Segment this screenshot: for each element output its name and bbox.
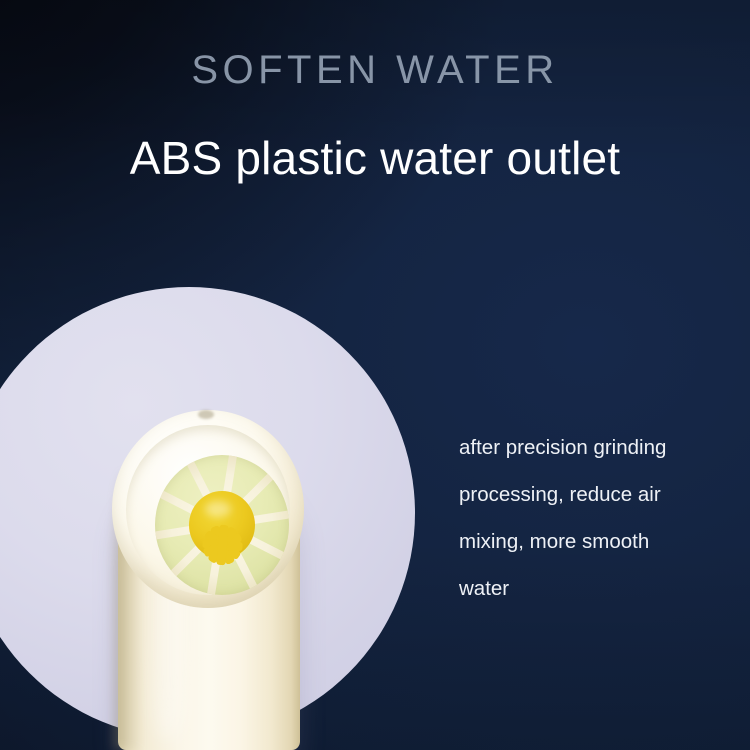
nozzle-seam-mark	[198, 410, 214, 419]
nozzle-outer-collar	[112, 410, 304, 608]
description-line: processing, reduce air	[459, 471, 737, 518]
product-banner: SOFTEN WATER ABS plastic water outlet af…	[0, 0, 750, 750]
nozzle-inner-collar	[126, 425, 290, 595]
hub-gloss-highlight	[205, 501, 231, 517]
nozzle-center-hub	[189, 491, 255, 559]
description-block: after precision grinding processing, red…	[459, 424, 737, 612]
water-outlet-nozzle	[112, 404, 304, 750]
description-line: mixing, more smooth	[459, 518, 737, 565]
nozzle-grille	[155, 455, 289, 595]
description-line: water	[459, 565, 737, 612]
page-title: ABS plastic water outlet	[0, 133, 750, 185]
eyebrow-label: SOFTEN WATER	[0, 50, 750, 90]
description-line: after precision grinding	[459, 424, 737, 471]
